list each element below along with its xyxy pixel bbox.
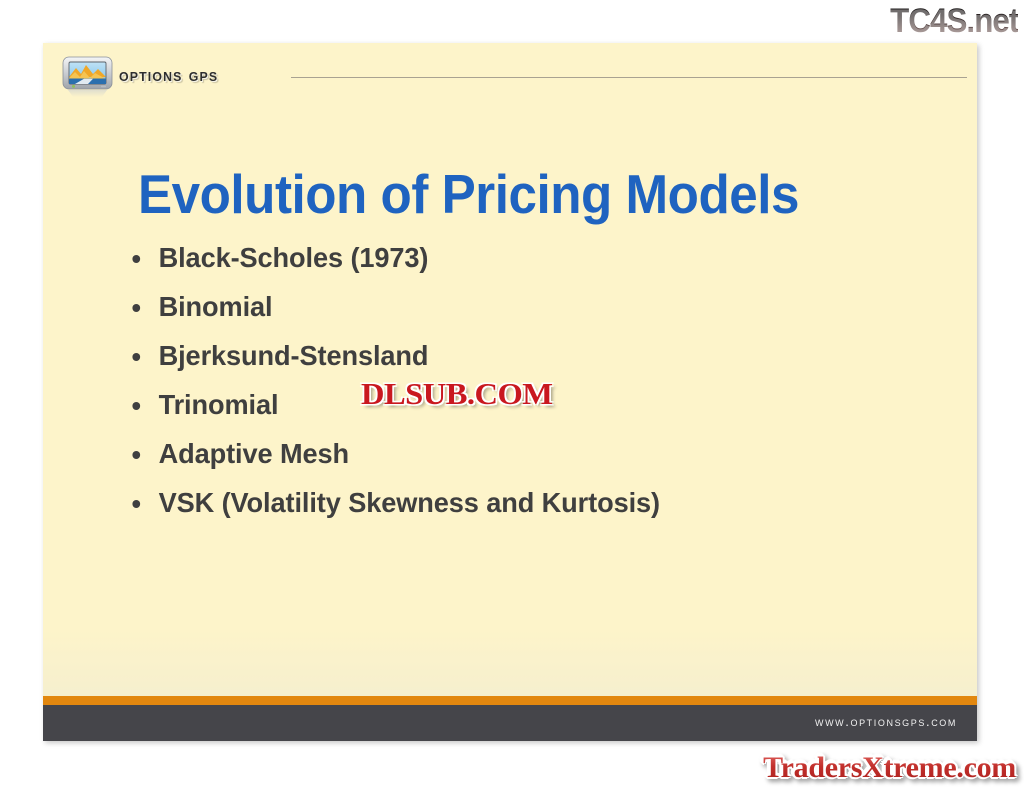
slide-footer: www.OptionsGPS.com [43,705,977,741]
list-item-label: Trinomial [159,389,279,420]
list-item-label: Black-Scholes (1973) [159,242,429,273]
list-item: Adaptive Mesh [113,429,938,478]
gps-device-map-icon [62,55,115,99]
bullet-dot-icon [132,255,140,263]
bullet-dot-icon [132,451,140,459]
bullet-dot-icon [132,500,140,508]
footer-url: www.OptionsGPS.com [815,714,957,729]
bullet-dot-icon [132,402,140,410]
tradersxtreme-watermark: TradersXtreme.com [763,751,1016,785]
tc4s-watermark: TC4S.net [890,2,1018,41]
orange-divider [43,696,977,705]
list-item-label: Adaptive Mesh [159,438,349,469]
bullet-dot-icon [132,304,140,312]
list-item-label: Bjerksund-Stensland [159,340,429,371]
list-item: Binomial [113,282,938,331]
page-title: Evolution of Pricing Models [138,164,882,224]
list-item: Bjerksund-Stensland [113,331,938,380]
header-divider [291,77,967,78]
list-item-label: VSK (Volatility Skewness and Kurtosis) [159,487,660,518]
bullet-dot-icon [132,353,140,361]
dlsub-watermark: DLSUB.COM [361,376,553,412]
presentation-slide: Options GPS Evolution of Pricing Models … [43,43,977,741]
list-item: VSK (Volatility Skewness and Kurtosis) [113,478,938,527]
brand-name: Options GPS [119,65,218,87]
slide-header: Options GPS [43,43,977,109]
list-item: Black-Scholes (1973) [113,233,938,282]
list-item-label: Binomial [159,291,273,322]
